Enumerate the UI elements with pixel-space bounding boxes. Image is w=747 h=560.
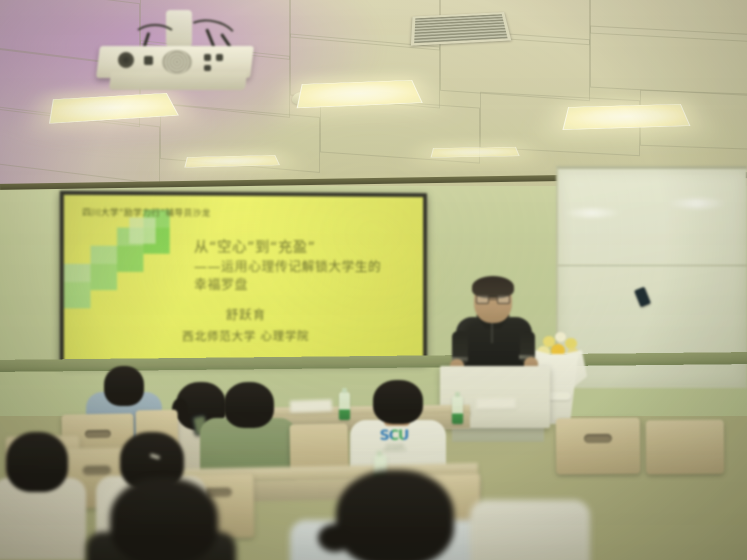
mosaic-square (117, 246, 143, 272)
attendee-head (110, 478, 218, 560)
water-bottle (339, 392, 350, 420)
slide-speaker-block: 舒跃育 西北师范大学 心理学院 (64, 304, 423, 345)
slide-header-text: 四川大学“励学力行”辅导员沙龙 (82, 206, 210, 219)
projector-port (204, 54, 211, 61)
mosaic-square (91, 264, 118, 290)
slide-title: 从“空心”到“充盈” ——运用心理传记解锁大学生的 幸福罗盘 (194, 238, 421, 296)
mosaic-square (129, 217, 155, 243)
glasses-lens (497, 295, 510, 304)
paper-sheet (476, 398, 516, 410)
chair-handle (584, 434, 612, 443)
attendee-head (104, 366, 144, 406)
attendee-head (224, 382, 274, 428)
light-reflection (666, 199, 728, 208)
attendee-head (373, 380, 423, 424)
presenter-placket (491, 323, 493, 343)
whiteboard-seam (558, 265, 747, 266)
attendee-torso (470, 500, 590, 560)
chair-handle (85, 430, 111, 438)
ceiling-light-panel (562, 104, 690, 130)
lecture-hall-photo: 四川大学“励学力行”辅导员沙龙 从“空心”到“充盈” ——运用心理传记解锁大学生… (0, 0, 747, 560)
projector-fan-vent-icon (162, 50, 192, 74)
projector-port (216, 54, 223, 61)
flower (555, 332, 566, 342)
chair (646, 420, 724, 475)
scu-shirt-logo: SCU (378, 428, 410, 445)
projector-lens-icon (118, 52, 134, 68)
projector-body-lower (109, 72, 247, 90)
presenter (450, 279, 540, 379)
slide-title-line-2: ——运用心理传记解锁大学生的 (194, 258, 421, 277)
paper-sheet (290, 399, 332, 412)
projection-screen: 四川大学“励学力行”辅导员沙龙 从“空心”到“充盈” ——运用心理传记解锁大学生… (60, 191, 427, 365)
ceiling-light-panel (430, 147, 519, 158)
ceiling-tile (590, 26, 747, 97)
light-reflection (562, 209, 622, 217)
projector-port (204, 65, 211, 71)
speaker-name: 舒跃育 (64, 304, 423, 324)
speaker-organization: 西北师范大学 心理学院 (64, 327, 423, 345)
hair-detail (318, 524, 352, 552)
glasses-bridge (489, 299, 497, 300)
projector-button (144, 56, 153, 65)
chair (556, 418, 640, 475)
attendee-head (6, 432, 68, 492)
slide-title-line-1: 从“空心”到“充盈” (194, 238, 421, 259)
glasses-lens (476, 295, 489, 304)
attendee-head (336, 470, 454, 560)
water-bottle (452, 396, 463, 424)
chair-handle (83, 466, 111, 475)
slide-title-line-3: 幸福罗盘 (194, 277, 421, 296)
hvac-vent-icon (411, 12, 511, 46)
scu-shirt-sublogo: SICHUAN UNIVERSITY (378, 444, 412, 452)
ceiling-projector (92, 10, 272, 90)
glasses-icon (476, 295, 510, 304)
presentation-slide: 四川大学“励学力行”辅导员沙龙 从“空心”到“充盈” ——运用心理传记解锁大学生… (64, 195, 423, 361)
